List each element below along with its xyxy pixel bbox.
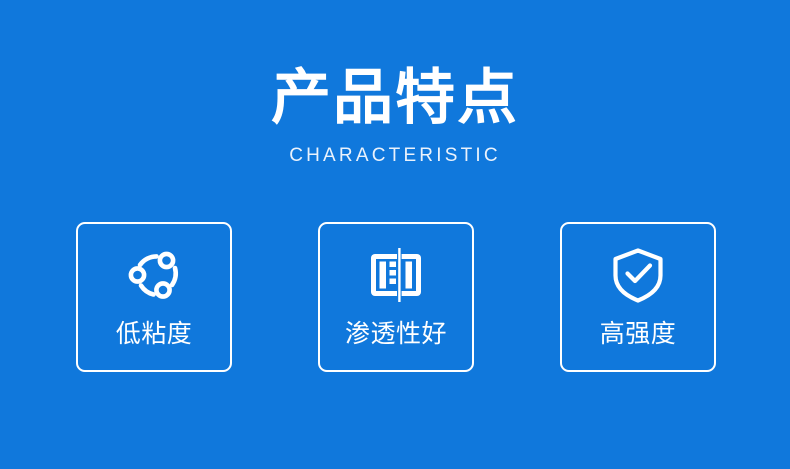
page-title: 产品特点 xyxy=(0,62,790,134)
feature-card-label: 高强度 xyxy=(600,318,677,350)
shield-check-icon xyxy=(607,244,669,306)
low-viscosity-molecules-icon xyxy=(123,244,185,306)
product-characteristics-banner: 产品特点 CHARACTERISTIC xyxy=(0,0,790,469)
penetration-icon xyxy=(365,244,427,306)
banner-header: 产品特点 CHARACTERISTIC xyxy=(0,62,790,168)
feature-card-list: 低粘度 xyxy=(76,222,716,373)
page-subtitle: CHARACTERISTIC xyxy=(0,144,790,168)
feature-card-high-strength[interactable]: 高强度 xyxy=(560,222,716,372)
feature-card-permeability[interactable]: 渗透性好 xyxy=(318,222,474,372)
feature-card-low-viscosity[interactable]: 低粘度 xyxy=(76,222,232,372)
feature-card-label: 低粘度 xyxy=(116,318,193,350)
feature-card-label: 渗透性好 xyxy=(345,318,447,350)
